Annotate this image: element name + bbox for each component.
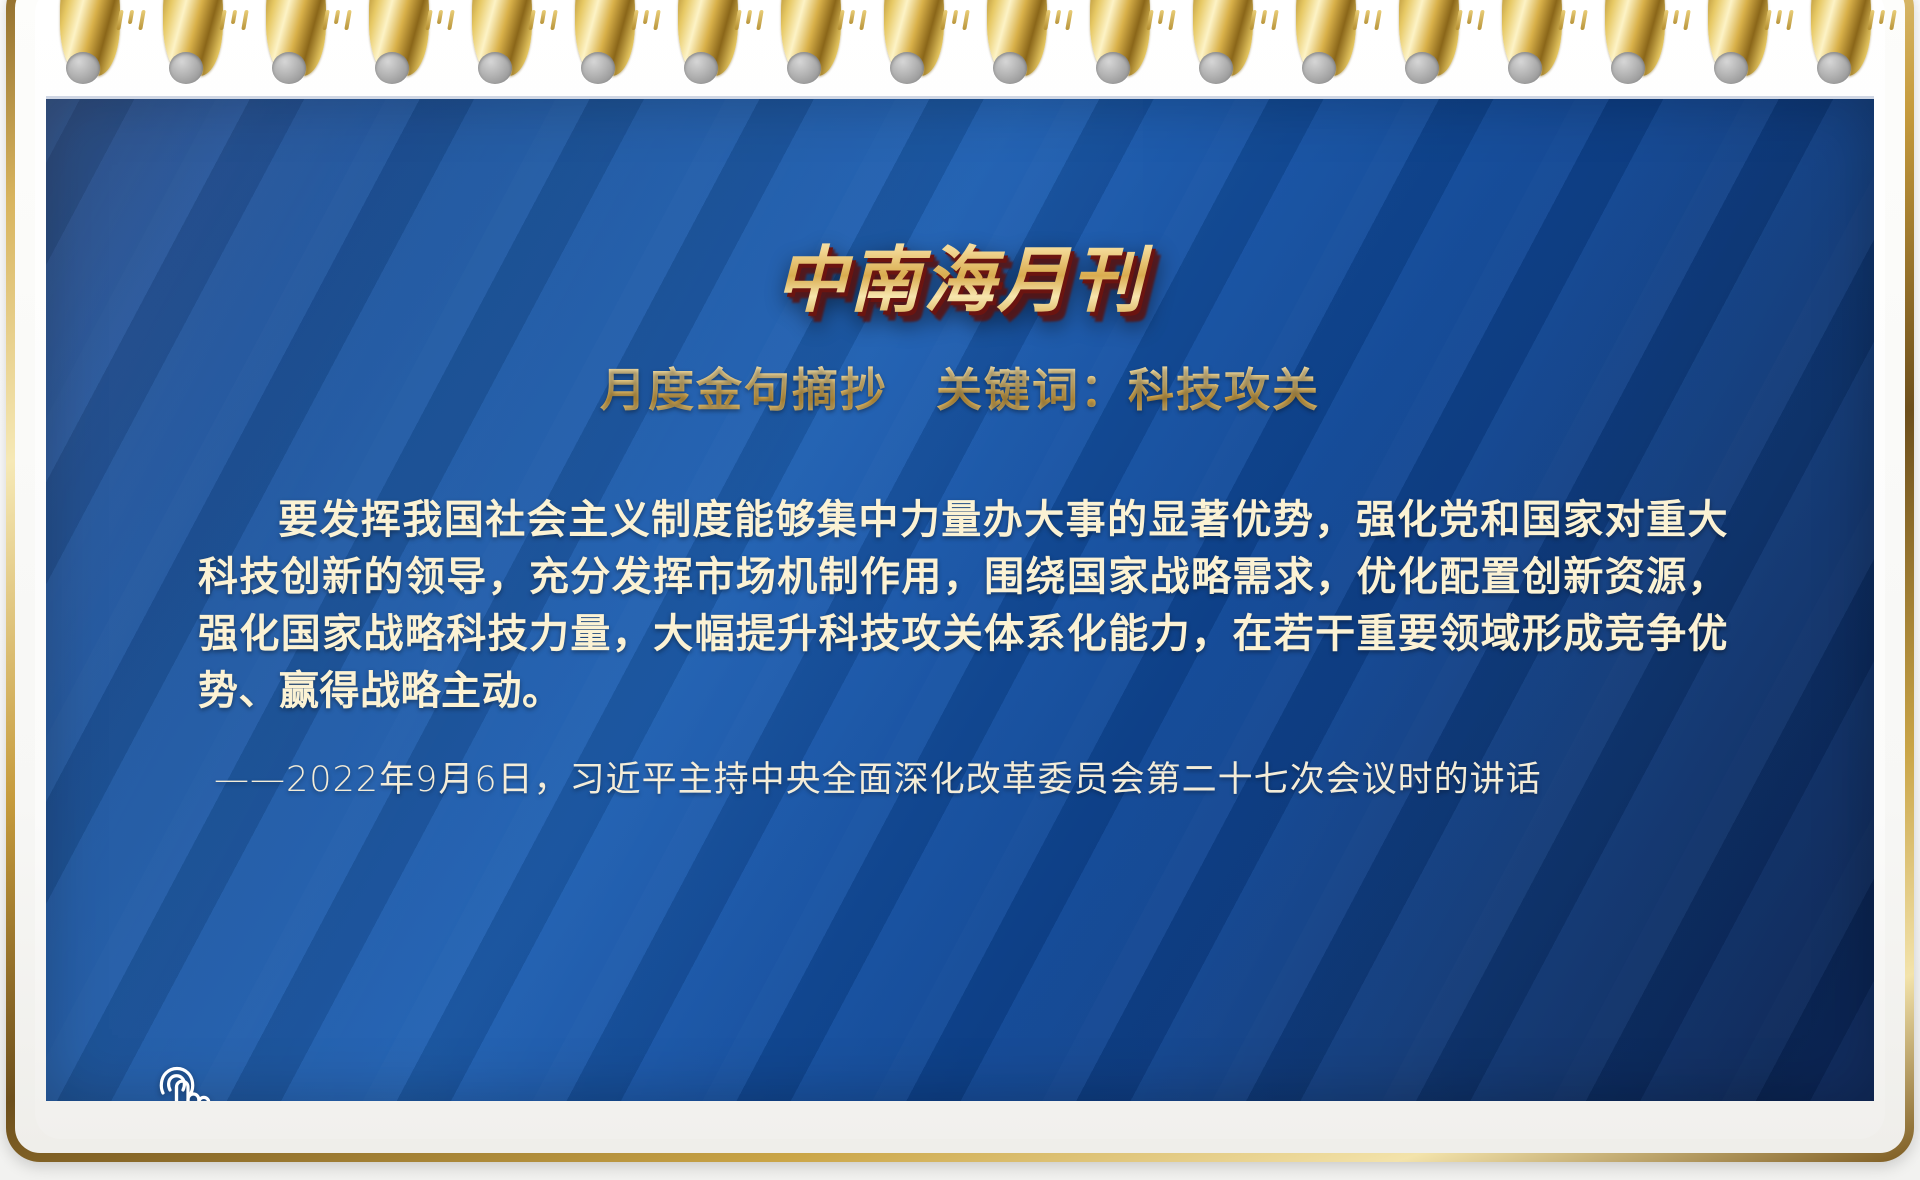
quote-body-text: 要发挥我国社会主义制度能够集中力量办大事的显著优势，强化党和国家对重大科技创新的… <box>198 491 1728 719</box>
tap-hand-icon[interactable] <box>146 1059 218 1101</box>
publication-masthead: 中南海月刊 <box>46 221 1874 326</box>
quote-attribution: ——2022年9月6日，习近平主持中央全面深化改革委员会第二十七次会议时的讲话 <box>214 755 1714 805</box>
tap-hand-glyph <box>146 1059 218 1101</box>
content-card: 中南海月刊 月度金句摘抄 关键词：科技攻关 要发挥我国社会主义制度能够集中力量办… <box>46 96 1874 1101</box>
subtitle-keyword-line: 月度金句摘抄 关键词：科技攻关 <box>46 354 1874 420</box>
notepad-page: 中南海月刊 月度金句摘抄 关键词：科技攻关 要发挥我国社会主义制度能够集中力量办… <box>0 0 1920 1180</box>
